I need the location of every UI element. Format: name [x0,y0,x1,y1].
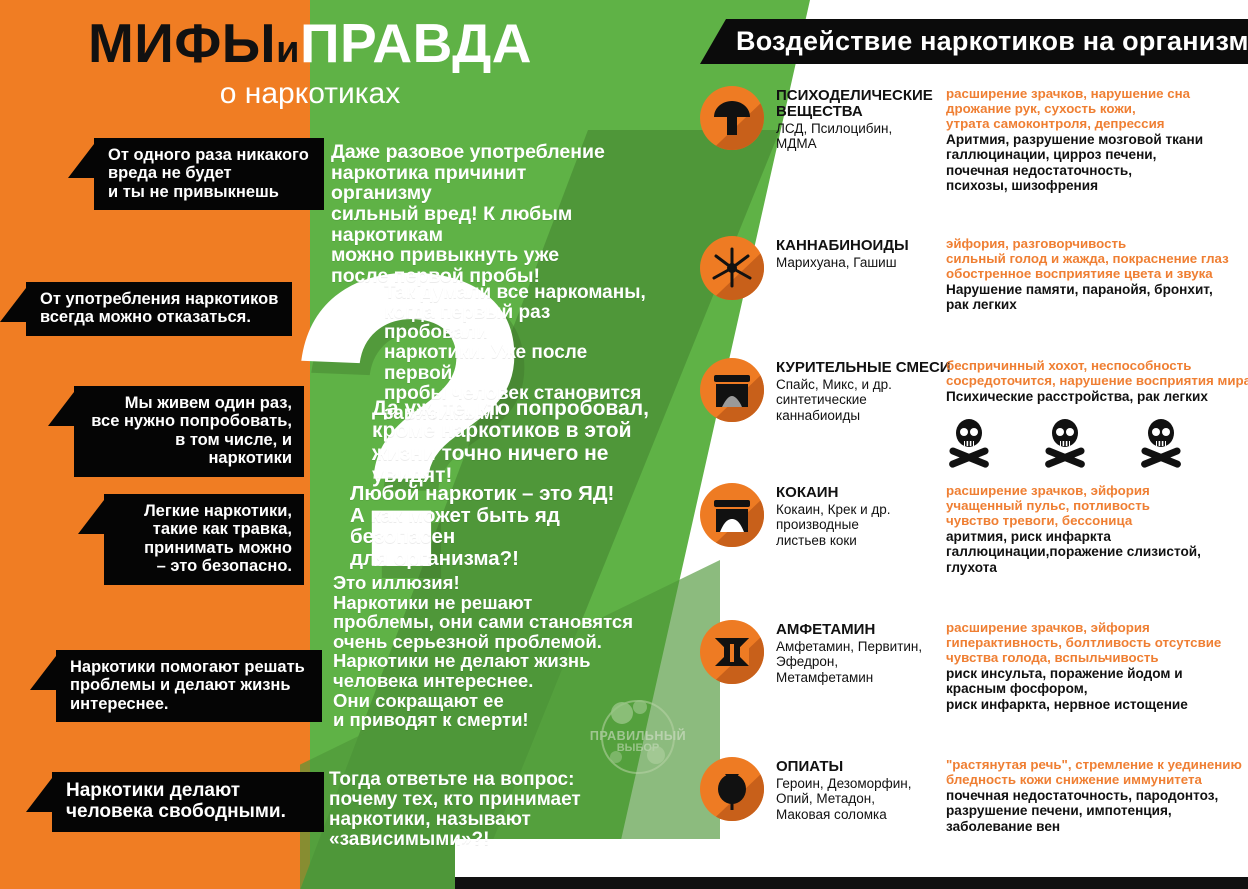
drug-substances: Кокаин, Крек и др.производныелистьев кок… [776,502,948,548]
myth-bubble-2: От употребления наркотиковвсегда можно о… [26,282,292,336]
bubble-tail-icon [0,288,26,322]
drug-substances: Героин, Дезоморфин,Опий, Метадон,Маковая… [776,776,948,822]
truth-text-1: Даже разовое употреблениенаркотика причи… [331,142,631,287]
jar-white-powder-glyph-icon [700,483,764,547]
effects-short: эйфория, разговорчивостьсильный голод и … [946,236,1248,281]
bubble-tail-icon [68,144,94,178]
truth-text-5: Это иллюзия!Наркотики не решаютпроблемы,… [333,573,643,730]
bubble-tail-icon [30,656,56,690]
open-box-glyph-icon [700,620,764,684]
right-panel-header: Воздействие наркотиков на организм [700,19,1248,64]
drug-effects: расширение зрачков, эйфориягиперактивнос… [946,620,1248,712]
myth-bubble-1: От одного раза никакоговреда не будети т… [94,138,324,210]
effects-long: Аритмия, разрушение мозговой тканигаллюц… [946,132,1248,193]
myth-text: Легкие наркотики,такие как травка,приним… [118,502,292,576]
jar-glyph-icon [700,358,764,422]
effects-short: расширение зрачков, эйфорияучащенный пул… [946,483,1248,528]
effects-long: риск инсульта, поражение йодом икрасным … [946,666,1248,712]
truth-text-3: Да уж, те, кто попробовал,кроме наркотик… [372,398,662,487]
myth-bubble-4: Легкие наркотики,такие как травка,приним… [104,494,304,585]
myth-bubble-6: Наркотики делаютчеловека свободными. [52,772,324,832]
skull-crossbones-icon [1041,418,1089,470]
effects-long: аритмия, риск инфарктагаллюцинации,пораж… [946,529,1248,575]
skull-crossbones-icon [1137,418,1185,470]
drug-names: КОКАИН Кокаин, Крек и др.производныелист… [776,485,948,548]
amphetamine-box-icon [700,620,764,684]
drug-title: ОПИАТЫ [776,759,948,775]
title-subtitle: о наркотиках [0,77,620,111]
effects-long: почечная недостаточность, пародонтоз,раз… [946,788,1248,834]
drug-effects: беспричинный хохот, неспособностьсосредо… [946,358,1248,404]
bubble-tail-icon [26,778,52,812]
bottom-black-bar [455,877,1248,889]
drug-names: КУРИТЕЛЬНЫЕ СМЕСИ Спайс, Микс, и др.синт… [776,360,954,423]
infographic-poster: ? МИФЫиПРАВДА о наркотиках От одного раз… [0,0,1248,889]
myth-text: От одного раза никакоговреда не будети т… [108,146,312,201]
myth-bubble-3: Мы живем один раз,все нужно попробовать,… [74,386,304,477]
myth-text: От употребления наркотиковвсегда можно о… [40,290,280,327]
drug-substances: Марихуана, Гашиш [776,255,948,270]
drug-title: КУРИТЕЛЬНЫЕ СМЕСИ [776,360,954,376]
myth-text: Наркотики делаютчеловека свободными. [66,780,312,823]
effects-short: беспричинный хохот, неспособностьсосредо… [946,358,1248,388]
myth-text: Наркотики помогают решатьпроблемы и дела… [70,658,310,713]
drug-effects: расширение зрачков, нарушение снадрожани… [946,86,1248,193]
orange-bottom-strip [0,829,28,889]
mushroom-icon [700,86,764,150]
drug-effects: "растянутая речь", стремление к уединени… [946,757,1248,834]
drug-title: КАННАБИНОИДЫ [776,238,948,254]
right-panel-header-label: Воздействие наркотиков на организм [736,26,1248,57]
mushroom-glyph-icon [700,86,764,150]
title-word-truth: ПРАВДА [300,12,532,74]
drug-names: ОПИАТЫ Героин, Дезоморфин,Опий, Метадон,… [776,759,948,822]
drug-substances: Спайс, Микс, и др.синтетическиеканнабиои… [776,377,954,423]
drug-names: АМФЕТАМИН Амфетамин, Первитин,Эфедрон,Ме… [776,622,948,685]
cannabis-leaf-icon [700,236,764,300]
watermark-line1: ПРАВИЛЬНЫЙ [578,729,698,743]
drug-title: КОКАИН [776,485,948,501]
bubble-tail-icon [48,392,74,426]
drug-title: ПСИХОДЕЛИЧЕСКИЕВЕЩЕСТВА [776,88,948,120]
drug-substances: Амфетамин, Первитин,Эфедрон,Метамфетамин [776,639,948,685]
drug-title: АМФЕТАМИН [776,622,948,638]
truth-text-6: Тогда ответьте на вопрос:почему тех, кто… [329,770,629,851]
myth-bubble-5: Наркотики помогают решатьпроблемы и дела… [56,650,322,722]
title-word-myths: МИФЫ [88,12,276,74]
cannabis-leaf-glyph-icon [700,236,764,300]
effects-short: расширение зрачков, эйфориягиперактивнос… [946,620,1248,665]
title-conjunction: и [276,29,300,71]
drug-effects: расширение зрачков, эйфорияучащенный пул… [946,483,1248,575]
skull-warning-group [945,418,1205,470]
drug-names: ПСИХОДЕЛИЧЕСКИЕВЕЩЕСТВА ЛСД, Псилоцибин,… [776,88,948,151]
poppy-pod-icon [700,757,764,821]
skull-crossbones-icon [945,418,993,470]
effects-long: Нарушение памяти, паранойя, бронхит,рак … [946,282,1248,313]
cocaine-jar-icon [700,483,764,547]
effects-long: Психические расстройства, рак легких [946,389,1248,404]
drug-names: КАННАБИНОИДЫ Марихуана, Гашиш [776,238,948,270]
truth-text-4: Любой наркотик – это ЯД!А как может быть… [350,483,650,570]
bubble-tail-icon [78,500,104,534]
myth-text: Мы живем один раз,все нужно попробовать,… [88,394,292,468]
drug-substances: ЛСД, Псилоцибин,МДМА [776,121,948,152]
page-title: МИФЫиПРАВДА о наркотиках [0,16,620,111]
drug-effects: эйфория, разговорчивостьсильный голод и … [946,236,1248,313]
smoking-mix-jar-icon [700,358,764,422]
effects-short: "растянутая речь", стремление к уединени… [946,757,1248,787]
watermark-line2: ВЫБОР [578,742,698,754]
poppy-pod-glyph-icon [700,757,764,821]
effects-short: расширение зрачков, нарушение снадрожани… [946,86,1248,131]
